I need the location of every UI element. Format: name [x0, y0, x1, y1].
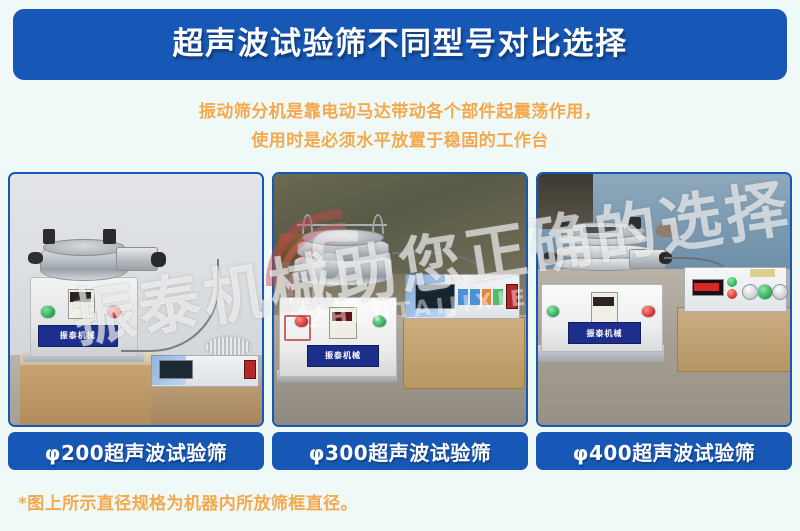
photo1-brand-plate-text: 振泰机械 [39, 326, 117, 346]
page-title: 超声波试验筛不同型号对比选择 [173, 29, 628, 60]
photo3-generator-label-sticker [750, 269, 775, 277]
photo1-green-start-button [40, 305, 56, 320]
caption-label-phi400: φ400超声波试验筛 [573, 437, 755, 466]
photo2-generator-button-row [458, 289, 503, 304]
photo-frame-phi400: 振泰机械 [536, 172, 792, 427]
photo1-clamp-knob-left [43, 229, 56, 244]
caption-label-phi200: φ200超声波试验筛 [45, 437, 227, 466]
photo2-brand-plate: 振泰机械 [307, 345, 380, 367]
photo3-clamp-knob-left [561, 217, 574, 230]
product-card-phi400[interactable]: 振泰机械 φ400超声波试验筛 [536, 172, 792, 472]
caption-bar-phi400: φ400超声波试验筛 [536, 432, 792, 470]
photo2-generator-button-3 [482, 289, 492, 304]
photo3-display-readout [593, 297, 613, 306]
photo1-clamp-knob-right [103, 229, 116, 244]
photo1-wooden-crate [20, 360, 161, 425]
product-card-row: 振泰机械 φ200超声波试验筛 [8, 172, 792, 472]
photo3-green-start-button [546, 305, 561, 318]
caption-bar-phi300: φ300超声波试验筛 [272, 432, 528, 470]
photo-frame-phi200: 振泰机械 [8, 172, 264, 427]
photo3-generator-green-button [727, 277, 737, 287]
photo2-generator-button-1 [458, 289, 468, 304]
photo2-generator-lcd [415, 284, 455, 309]
photo2-brand-plate-text: 振泰机械 [308, 346, 379, 366]
subtitle-line-2: 使用时是必须水平放置于稳固的工作台 [0, 127, 800, 156]
subtitle-block: 振动筛分机是靠电动马达带动各个部件起震荡作用， 使用时是必须水平放置于稳固的工作… [0, 98, 800, 156]
photo3-side-bolt [543, 252, 558, 265]
photo2-generator-button-2 [470, 289, 480, 304]
caption-label-phi300: φ300超声波试验筛 [309, 437, 491, 466]
photo1-generator-power-switch [244, 360, 256, 380]
photo2-green-start-button [372, 315, 387, 328]
caption-bar-phi200: φ200超声波试验筛 [8, 432, 264, 470]
phi300-ultrasonic-test-sieve-photo: 振泰机械 [274, 174, 526, 425]
subtitle-line-1: 振动筛分机是靠电动马达带动各个部件起震荡作用， [0, 98, 800, 127]
page-root: 超声波试验筛不同型号对比选择 振动筛分机是靠电动马达带动各个部件起震荡作用， 使… [0, 0, 800, 531]
photo3-clamp-knob-right [629, 217, 642, 230]
photo3-brand-plate: 振泰机械 [568, 322, 641, 344]
photo1-red-stop-button [106, 305, 122, 320]
photo2-certification-stamp [284, 315, 311, 342]
photo-frame-phi300: 振泰机械 [272, 172, 528, 427]
product-card-phi300[interactable]: 振泰机械 φ300超声波试验筛 [272, 172, 528, 472]
photo2-generator-button-4 [493, 289, 503, 304]
photo2-carton-box [403, 317, 526, 389]
title-banner: 超声波试验筛不同型号对比选择 [13, 9, 787, 80]
footnote: *图上所示直径规格为机器内所放筛框直径。 [18, 489, 358, 514]
photo2-display-readout [332, 312, 352, 321]
photo3-red-stop-button [641, 305, 656, 318]
photo1-side-bolt [28, 252, 43, 265]
photo2-generator-power-switch [506, 284, 518, 309]
phi200-ultrasonic-test-sieve-photo: 振泰机械 [10, 174, 262, 425]
photo1-brand-plate: 振泰机械 [38, 325, 118, 347]
photo1-display-readout [70, 292, 90, 302]
photo3-rust-stain [656, 224, 676, 237]
phi400-ultrasonic-test-sieve-photo: 振泰机械 [538, 174, 790, 425]
photo3-generator-led-digits [694, 283, 719, 291]
photo3-lid-handle [583, 227, 618, 233]
photo3-carton-box [677, 307, 790, 372]
photo1-generator-lcd [159, 360, 194, 380]
product-card-phi200[interactable]: 振泰机械 φ200超声波试验筛 [8, 172, 264, 472]
photo3-brand-plate-text: 振泰机械 [569, 323, 640, 343]
